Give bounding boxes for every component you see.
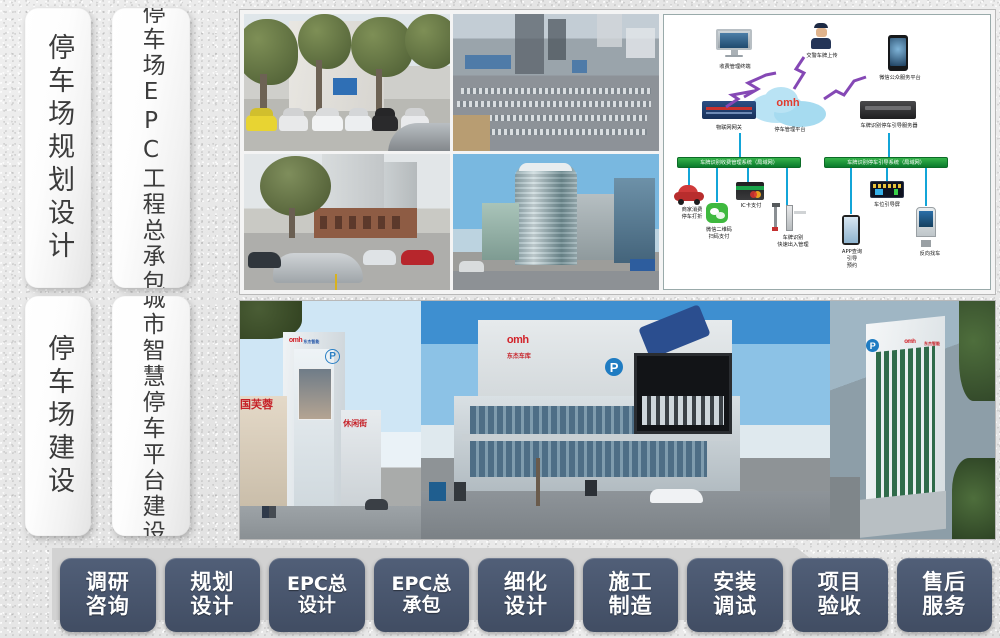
process-step-survey[interactable]: 调研 咨询 (60, 558, 156, 632)
sidebar-card-label: 停车场建设 (44, 334, 72, 499)
police-officer-icon (810, 23, 832, 49)
step-line2: 验收 (818, 595, 862, 619)
lightning-link-icon (822, 73, 868, 108)
photo-aerial-city-parking (453, 14, 659, 151)
step-line1: 安装 (713, 571, 757, 595)
step-line1: EPC总 (287, 574, 347, 595)
led-display-icon (870, 181, 904, 198)
step-line2: 设计 (298, 595, 336, 616)
diagram-leaf-reverse-find-car: 反向找车 (908, 251, 952, 258)
parking-p-icon: P (325, 349, 340, 364)
diagram-label-parking-platform: 停车管理平台 (760, 127, 820, 134)
sidebar-card-smart-platform[interactable]: 城市智慧停车平台建设 (112, 296, 190, 536)
render-tower-garage: omh 东杰智能 P 国芙蓉 休闲街 (240, 301, 421, 539)
diagram-leaf-ic-card-pay: IC卡支付 (730, 203, 772, 210)
lightning-link-icon (724, 89, 758, 116)
process-step-aftersales[interactable]: 售后 服务 (897, 558, 993, 632)
signage-leisure: 休闲街 (343, 418, 367, 429)
process-step-epc-general[interactable]: EPC总 承包 (374, 558, 470, 632)
step-line2: 设计 (504, 595, 548, 619)
brand-cn-label: 东杰智能 (303, 339, 319, 345)
smartphone-icon (888, 35, 908, 71)
sidebar-card-label: 城市智慧停车平台建设 (139, 296, 163, 536)
process-step-install[interactable]: 安装 调试 (687, 558, 783, 632)
step-line2: 设计 (190, 595, 234, 619)
red-car-icon (674, 185, 704, 203)
system-architecture-diagram: omh 停车管理平台 收费管理终端 交警车牌上传 微信公众服务平台 物联网 (663, 14, 991, 290)
step-line2: 承包 (402, 595, 440, 616)
process-step-detail[interactable]: 细化 设计 (478, 558, 574, 632)
wechat-icon (706, 203, 728, 223)
credit-card-icon (736, 182, 764, 200)
sidebar-card-epc-contracting[interactable]: 停车场EPC工程总承包 (112, 8, 190, 288)
barrier-gate-icon (772, 203, 806, 231)
omh-brand-logo: omh (904, 339, 915, 345)
diagram-label-charge-terminal: 收费管理终端 (704, 64, 766, 71)
sidebar-card-label: 停车场规划设计 (44, 33, 72, 264)
diagram-system-label: 车牌识别停车引导系统（局域网） (847, 159, 925, 166)
server-icon (860, 101, 916, 119)
process-step-manufacture[interactable]: 施工 制造 (583, 558, 679, 632)
photo-grid (244, 14, 659, 290)
brand-cn-garage: 东杰车库 (507, 351, 531, 360)
omh-brand-logo: omh (507, 334, 529, 346)
signage-lotus: 国芙蓉 (240, 396, 273, 412)
step-line2: 服务 (922, 595, 966, 619)
render-aerial-tower: P omh 东杰智能 (830, 301, 995, 539)
photo-glass-office-tower (453, 154, 659, 291)
diagram-leaf-wechat-qr-pay: 微信二维码扫码支付 (692, 227, 746, 241)
diagram-leaf-app-query: APP查询引导预约 (830, 249, 874, 270)
sidebar-card-planning-design[interactable]: 停车场规划设计 (25, 8, 91, 288)
lightning-link-icon (788, 55, 810, 98)
diagram-system-label: 车牌识别收费管理系统（局域网） (700, 159, 778, 166)
process-step-planning[interactable]: 规划 设计 (165, 558, 261, 632)
kiosk-icon (916, 207, 936, 247)
process-step-acceptance[interactable]: 项目 验收 (792, 558, 888, 632)
rendering-strip-panel: omh 东杰智能 P 国芙蓉 休闲街 omh 东杰车库 P P (239, 300, 996, 540)
step-line1: 规划 (190, 571, 234, 595)
diagram-label-guide-server: 车牌识别停车引导服务器 (846, 123, 932, 130)
photo-lot-brick-building (244, 154, 450, 291)
diagram-system-charge: 车牌识别收费管理系统（局域网） (677, 157, 801, 168)
step-line1: 项目 (818, 571, 862, 595)
step-line2: 制造 (609, 595, 653, 619)
desktop-icon (716, 29, 752, 57)
step-line1: 施工 (609, 571, 653, 595)
render-garage-facade: omh 东杰车库 P (421, 301, 830, 539)
sidebar-card-label: 停车场EPC工程总承包 (139, 8, 163, 288)
diagram-label-wechat-platform: 微信公众服务平台 (864, 75, 936, 82)
diagram-leaf-plate-entry-exit: 车牌识别快速出入管理 (764, 235, 822, 249)
sidebar-card-construction[interactable]: 停车场建设 (25, 296, 91, 536)
diagram-label-iot-gateway: 物联网网关 (699, 125, 759, 132)
step-line2: 调试 (713, 595, 757, 619)
step-line1: EPC总 (392, 574, 452, 595)
omh-brand-logo: omh (289, 337, 302, 344)
process-step-epc-design[interactable]: EPC总 设计 (269, 558, 365, 632)
process-steps-bar: 调研 咨询 规划 设计 EPC总 设计 EPC总 承包 细化 设计 施工 制造 … (60, 558, 992, 632)
step-line1: 售后 (922, 571, 966, 595)
photo-street-parking-lot (244, 14, 450, 151)
diagram-leaf-space-guide-screen: 车位引导屏 (860, 202, 914, 209)
step-line1: 调研 (86, 571, 130, 595)
brand-cn-label: 东杰智能 (924, 341, 940, 347)
step-line1: 细化 (504, 571, 548, 595)
step-line2: 咨询 (86, 595, 130, 619)
diagram-system-guide: 车牌识别停车引导系统（局域网） (824, 157, 948, 168)
top-content-panel: omh 停车管理平台 收费管理终端 交警车牌上传 微信公众服务平台 物联网 (239, 9, 996, 295)
phone-app-icon (842, 215, 860, 245)
